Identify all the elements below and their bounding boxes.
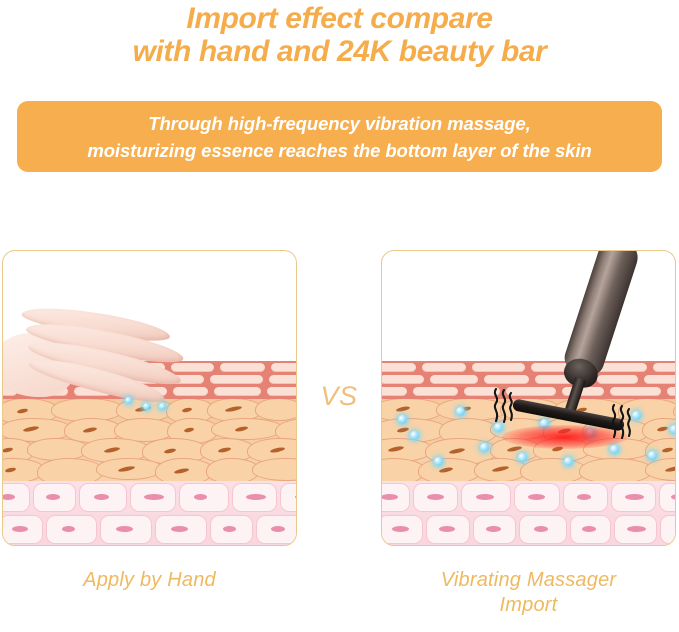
basal-cell-nucleus: [116, 526, 133, 532]
stratum-corneum-brick: [667, 387, 675, 396]
essence-particle: [159, 403, 166, 410]
basal-cell-nucleus: [46, 494, 60, 500]
caption-right-line-2: Import: [381, 593, 676, 618]
essence-particle: [480, 443, 489, 452]
essence-particle: [456, 407, 465, 416]
basal-cell-nucleus: [625, 494, 644, 500]
basal-cell-nucleus: [427, 494, 444, 500]
stratum-corneum-brick: [267, 387, 296, 396]
basal-cell-nucleus: [577, 494, 591, 500]
basal-cell-layer-right: [382, 481, 675, 545]
versus-label: VS: [299, 381, 379, 411]
basal-cell-nucleus: [94, 494, 109, 500]
skin-cell: [520, 458, 587, 481]
caption-left-line-1: Apply by Hand: [2, 568, 297, 593]
stratum-corneum-brick: [382, 375, 424, 384]
stratum-corneum-brick: [382, 387, 407, 396]
comparison-panel-left: [2, 250, 297, 546]
stratum-corneum-brick: [472, 363, 525, 372]
basal-cell-layer-left: [3, 481, 296, 545]
stratum-corneum-layer-right: [382, 361, 675, 399]
subtitle-banner: Through high-frequency vibration massage…: [17, 101, 662, 172]
stratum-corneum-brick: [171, 363, 214, 372]
basal-cell-nucleus: [144, 494, 164, 500]
essence-particle: [610, 445, 619, 454]
subtitle-line-1: Through high-frequency vibration massage…: [87, 110, 591, 137]
basal-cell-nucleus: [486, 526, 501, 532]
surface-heat-glow-right: [502, 425, 628, 449]
skin-cross-section-right: [382, 361, 675, 545]
subtitle-line-2: moisturizing essence reaches the bottom …: [87, 137, 591, 164]
basal-cell-nucleus: [62, 526, 75, 532]
essence-particle: [410, 431, 419, 440]
stratum-corneum-brick: [531, 363, 588, 372]
massager-handle: [561, 250, 642, 379]
infographic-root: Import effect compare with hand and 24K …: [0, 0, 679, 632]
basal-cell-nucleus: [271, 526, 285, 532]
basal-cell-nucleus: [534, 526, 548, 532]
basal-cell-nucleus: [528, 494, 545, 500]
stratum-corneum-brick: [653, 363, 675, 372]
stratum-corneum-brick: [644, 375, 675, 384]
caption-right-line-1: Vibrating Massager: [381, 568, 676, 593]
caption-right: Vibrating Massager Import: [381, 568, 676, 618]
essence-particle: [648, 451, 657, 460]
caption-left: Apply by Hand: [2, 568, 297, 593]
stratum-corneum-brick: [271, 363, 296, 372]
skin-cell: [37, 458, 104, 481]
stratum-corneum-brick: [594, 363, 647, 372]
hand-illustration: [2, 309, 176, 417]
comparison-panel-right: [381, 250, 676, 546]
essence-particle: [518, 453, 527, 462]
essence-particle: [125, 397, 132, 404]
essence-particle: [494, 423, 503, 432]
stratum-corneum-brick: [610, 387, 661, 396]
basal-cell-nucleus: [171, 526, 188, 532]
stratum-corneum-brick: [413, 387, 458, 396]
page-title-line-2: with hand and 24K beauty bar: [0, 35, 679, 68]
stratum-corneum-brick: [269, 375, 296, 384]
essence-particle: [564, 457, 573, 466]
stratum-corneum-brick: [464, 387, 500, 396]
essence-particle: [143, 403, 150, 410]
stratum-corneum-brick: [506, 387, 556, 396]
stratum-corneum-brick: [535, 375, 591, 384]
basal-cell-nucleus: [382, 494, 398, 500]
stratum-corneum-brick: [562, 387, 604, 396]
stratum-corneum-brick: [210, 375, 263, 384]
basal-cell: [660, 515, 675, 544]
stratum-corneum-brick: [220, 363, 265, 372]
stratum-corneum-brick: [214, 387, 261, 396]
page-title: Import effect compare with hand and 24K …: [0, 2, 679, 68]
skin-cell: [579, 458, 653, 481]
stratum-corneum-brick: [430, 375, 478, 384]
stratum-corneum-brick: [173, 387, 208, 396]
essence-particle: [670, 425, 675, 434]
basal-cell-nucleus: [627, 526, 646, 532]
skin-cell: [255, 399, 296, 421]
skin-cell: [252, 458, 296, 481]
essence-particle: [434, 457, 443, 466]
stratum-corneum-brick: [422, 363, 466, 372]
basal-cell-nucleus: [392, 526, 409, 532]
stratum-corneum-brick: [597, 375, 638, 384]
basal-cell: [280, 483, 296, 512]
essence-particle: [398, 415, 407, 424]
stratum-corneum-brick: [484, 375, 529, 384]
basal-cell-nucleus: [246, 494, 266, 500]
subtitle-banner-text: Through high-frequency vibration massage…: [77, 110, 601, 164]
stratum-corneum-brick: [382, 363, 416, 372]
page-title-line-1: Import effect compare: [0, 2, 679, 35]
essence-particle: [632, 411, 641, 420]
